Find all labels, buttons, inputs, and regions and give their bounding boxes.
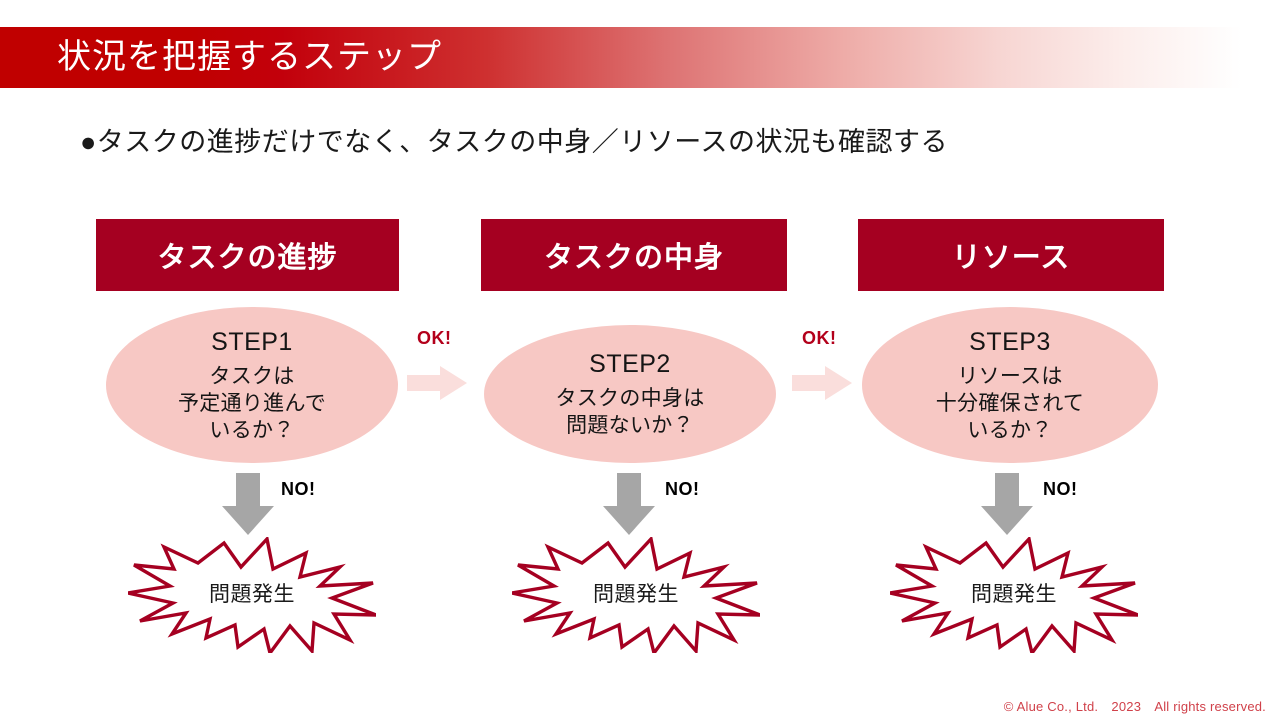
footer-copyright: © Alue Co., Ltd. 2023 All rights reserve… — [1004, 696, 1266, 715]
step-question-line: 問題ないか？ — [555, 412, 704, 439]
column-header-task-progress: タスクの進捗 — [96, 219, 399, 291]
step-ellipse-1: STEP1 タスクは 予定通り進んで いるか？ — [106, 307, 398, 463]
step-question: リソースは 十分確保されて いるか？ — [936, 363, 1084, 444]
burst-label-1: 問題発生 — [128, 582, 376, 608]
step-question-line: タスクの中身は — [555, 385, 704, 412]
bullet-text: ●タスクの進捗だけでなく、タスクの中身／リソースの状況も確認する — [80, 123, 948, 161]
step-label: STEP2 — [589, 349, 671, 379]
step-question: タスクの中身は 問題ないか？ — [555, 385, 704, 439]
down-arrow-icon-3 — [981, 473, 1033, 535]
column-header-label: タスクの進捗 — [157, 234, 337, 276]
step-ellipse-3: STEP3 リソースは 十分確保されて いるか？ — [862, 307, 1158, 463]
step-question-line: いるか？ — [936, 417, 1084, 444]
step-question-line: いるか？ — [178, 417, 326, 444]
ok-label-1: OK! — [417, 328, 452, 349]
step-ellipse-2: STEP2 タスクの中身は 問題ないか？ — [484, 325, 776, 463]
step-label: STEP3 — [969, 327, 1051, 357]
column-header-label: タスクの中身 — [544, 234, 724, 276]
burst-label-2: 問題発生 — [512, 582, 760, 608]
step-question-line: タスクは — [178, 363, 326, 390]
step-label: STEP1 — [211, 327, 293, 357]
column-header-label: リソース — [952, 234, 1071, 276]
step-question-line: リソースは — [936, 363, 1084, 390]
step-question: タスクは 予定通り進んで いるか？ — [178, 363, 326, 444]
column-header-task-content: タスクの中身 — [481, 219, 787, 291]
step-question-line: 予定通り進んで — [178, 390, 326, 417]
no-label-1: NO! — [281, 479, 316, 500]
down-arrow-icon-1 — [222, 473, 274, 535]
page-title: 状況を把握するステップ — [57, 29, 442, 85]
no-label-2: NO! — [665, 479, 700, 500]
right-arrow-icon-2 — [792, 366, 852, 400]
down-arrow-icon-2 — [603, 473, 655, 535]
column-header-resource: リソース — [858, 219, 1164, 291]
ok-label-2: OK! — [802, 328, 837, 349]
no-label-3: NO! — [1043, 479, 1078, 500]
right-arrow-icon-1 — [407, 366, 467, 400]
step-question-line: 十分確保されて — [936, 390, 1084, 417]
burst-label-3: 問題発生 — [890, 582, 1138, 608]
